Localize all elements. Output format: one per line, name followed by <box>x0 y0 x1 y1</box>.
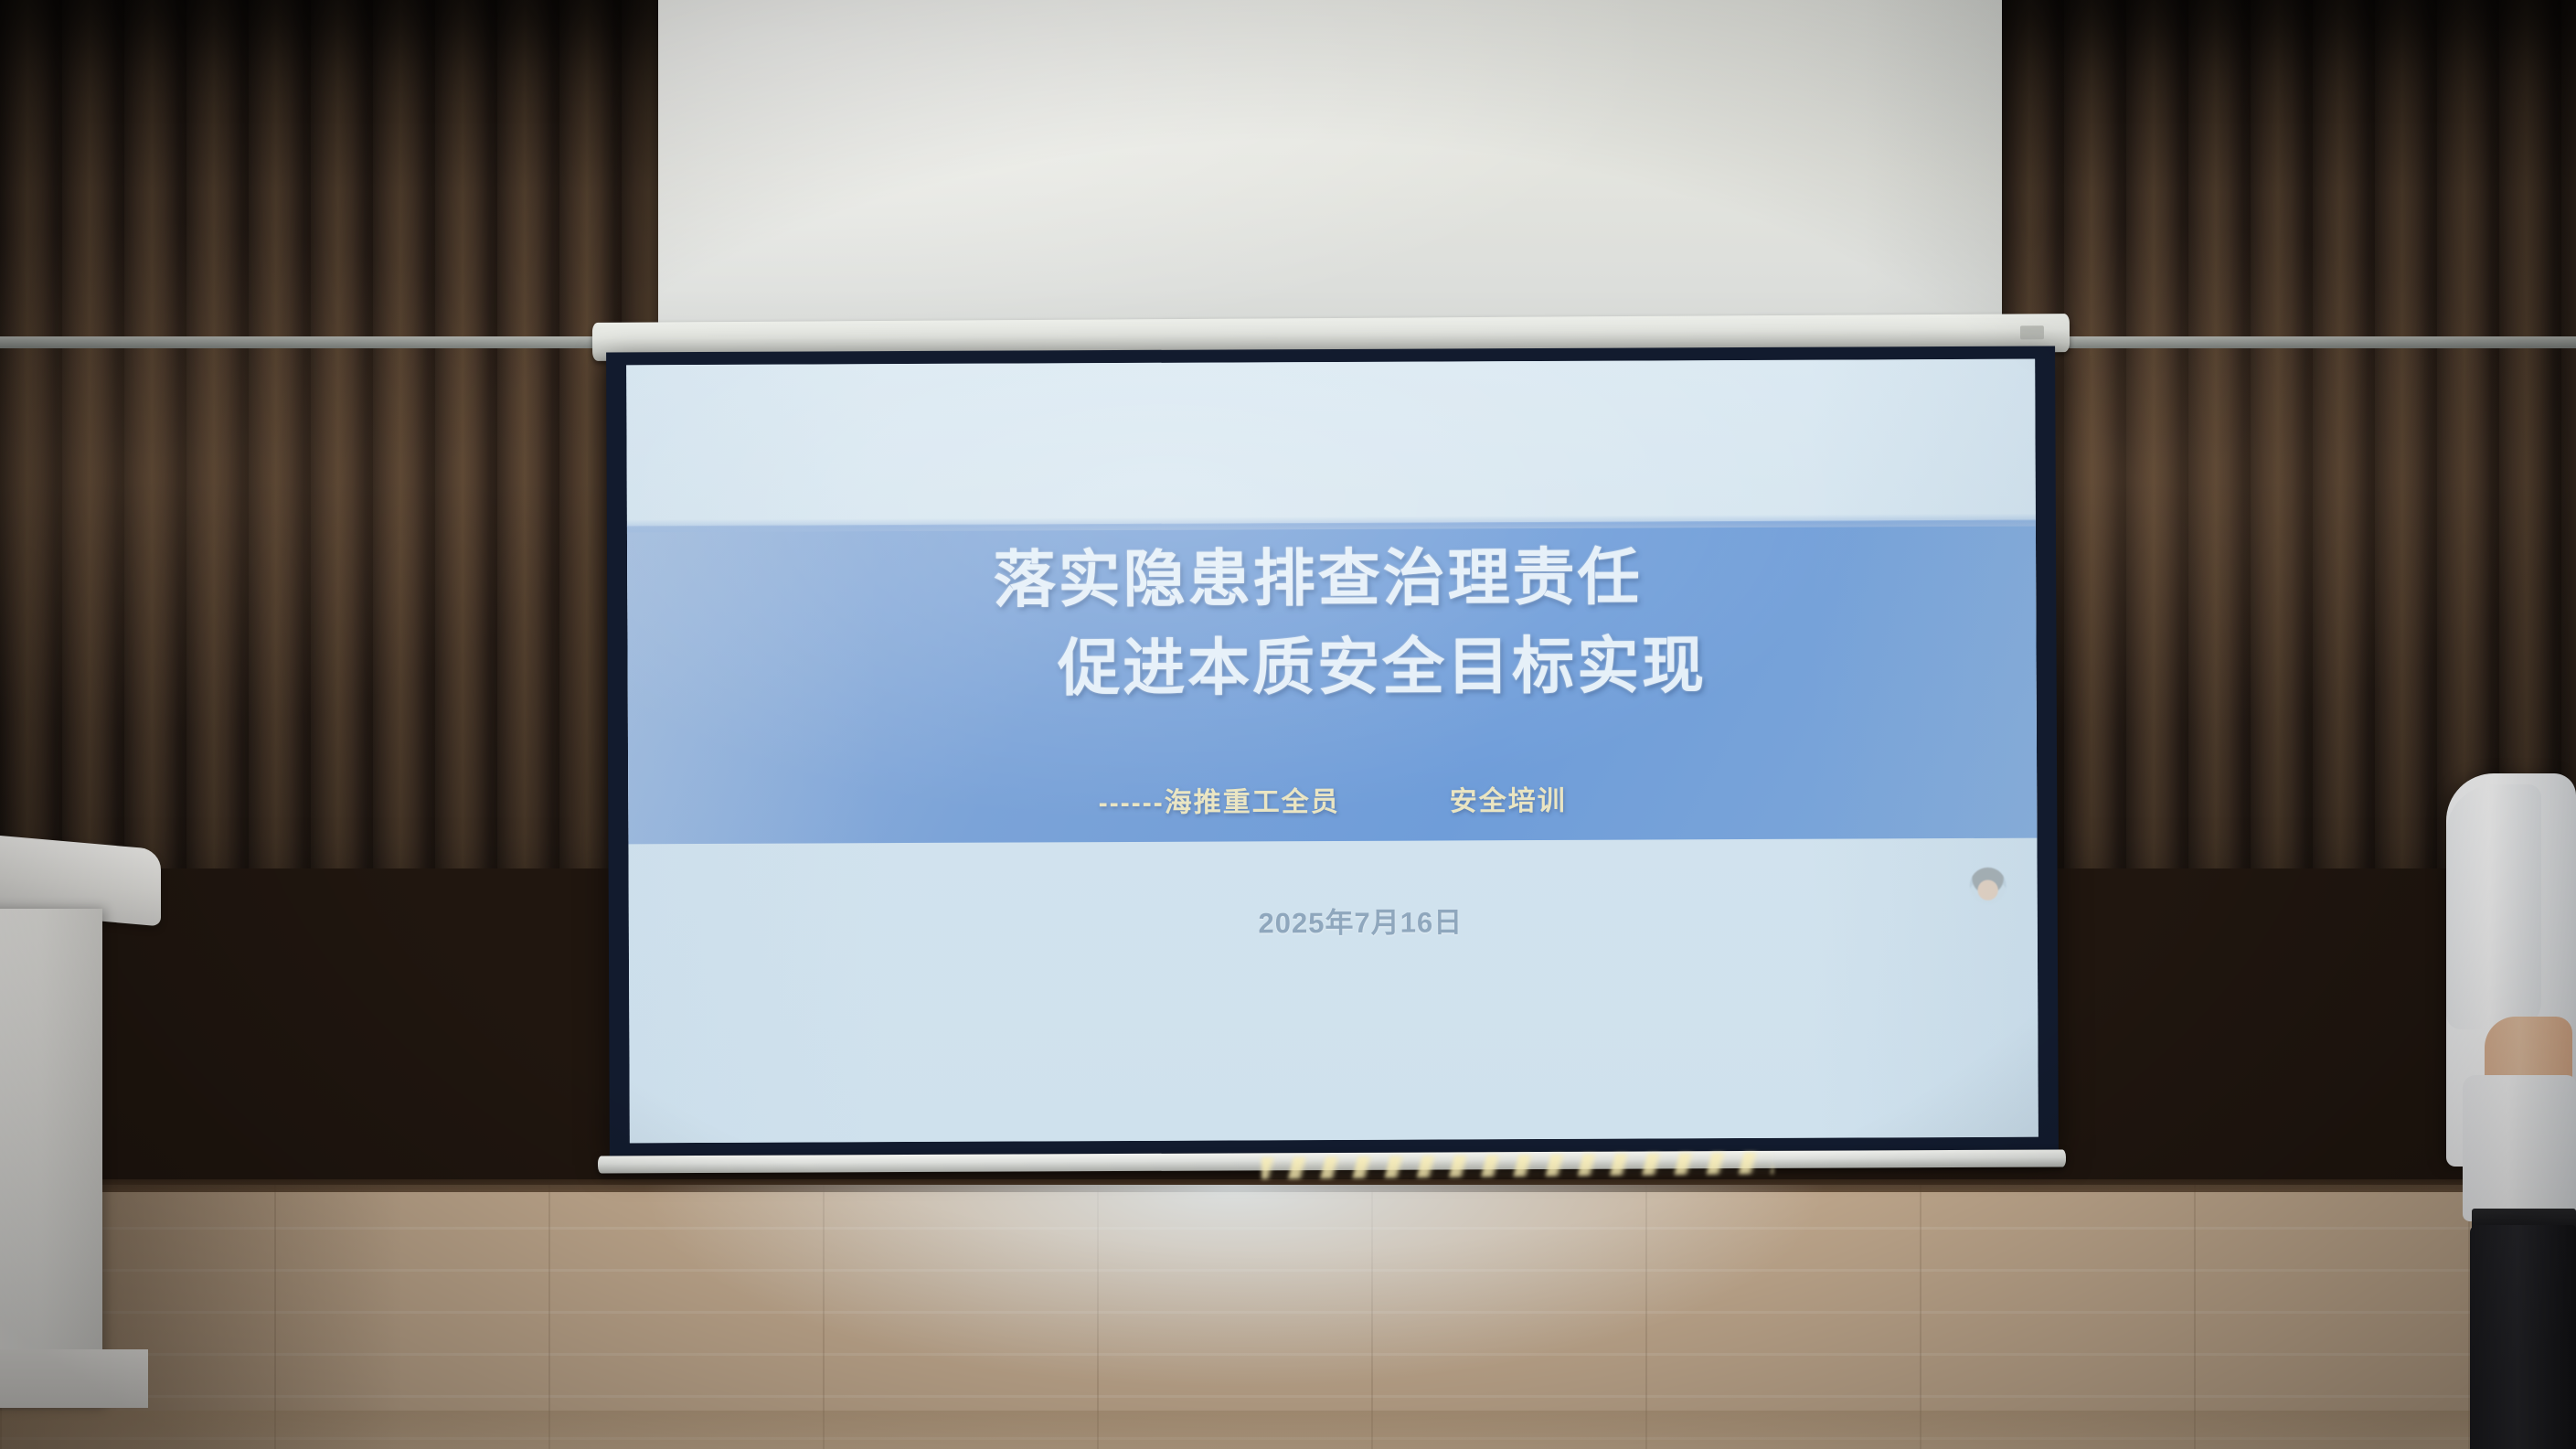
projection-screen-frame: 落实隐患排查治理责任 促进本质安全目标实现 ------海推重工全员 安全培训 … <box>606 346 2059 1156</box>
room-scene: 落实隐患排查治理责任 促进本质安全目标实现 ------海推重工全员 安全培训 … <box>0 0 2576 1449</box>
person-trousers <box>2470 1225 2576 1449</box>
projection-screen-surface: 落实隐患排查治理责任 促进本质安全目标实现 ------海推重工全员 安全培训 … <box>626 359 2038 1144</box>
slide-subtitle-right: 安全培训 <box>1450 778 1567 819</box>
lectern-body <box>0 909 102 1408</box>
floor-front-edge <box>0 1411 2576 1449</box>
slide-title-line-1: 落实隐患排查治理责任 <box>627 538 2036 621</box>
curtain-left <box>0 0 658 868</box>
housing-badge-icon <box>2020 325 2044 339</box>
slide-title-line-2: 促进本质安全目标实现 <box>627 627 2036 709</box>
slide-title: 落实隐患排查治理责任 促进本质安全目标实现 <box>627 538 2037 709</box>
standing-person <box>2432 773 2576 1449</box>
presenter-avatar <box>1970 868 2007 904</box>
slide-date: 2025年7月16日 <box>629 897 2038 944</box>
lectern <box>0 841 166 1408</box>
curtain-right <box>2002 0 2576 868</box>
person-shirt-lower <box>2463 1075 2576 1221</box>
slide-subtitle: ------海推重工全员 安全培训 <box>628 776 2037 823</box>
person-sleeve <box>2446 784 2541 1029</box>
lectern-base <box>0 1349 148 1408</box>
projector-light-spill <box>622 1185 1847 1432</box>
presentation-slide: 落实隐患排查治理责任 促进本质安全目标实现 ------海推重工全员 安全培训 … <box>626 359 2038 1144</box>
slide-subtitle-left: ------海推重工全员 <box>1099 779 1340 820</box>
